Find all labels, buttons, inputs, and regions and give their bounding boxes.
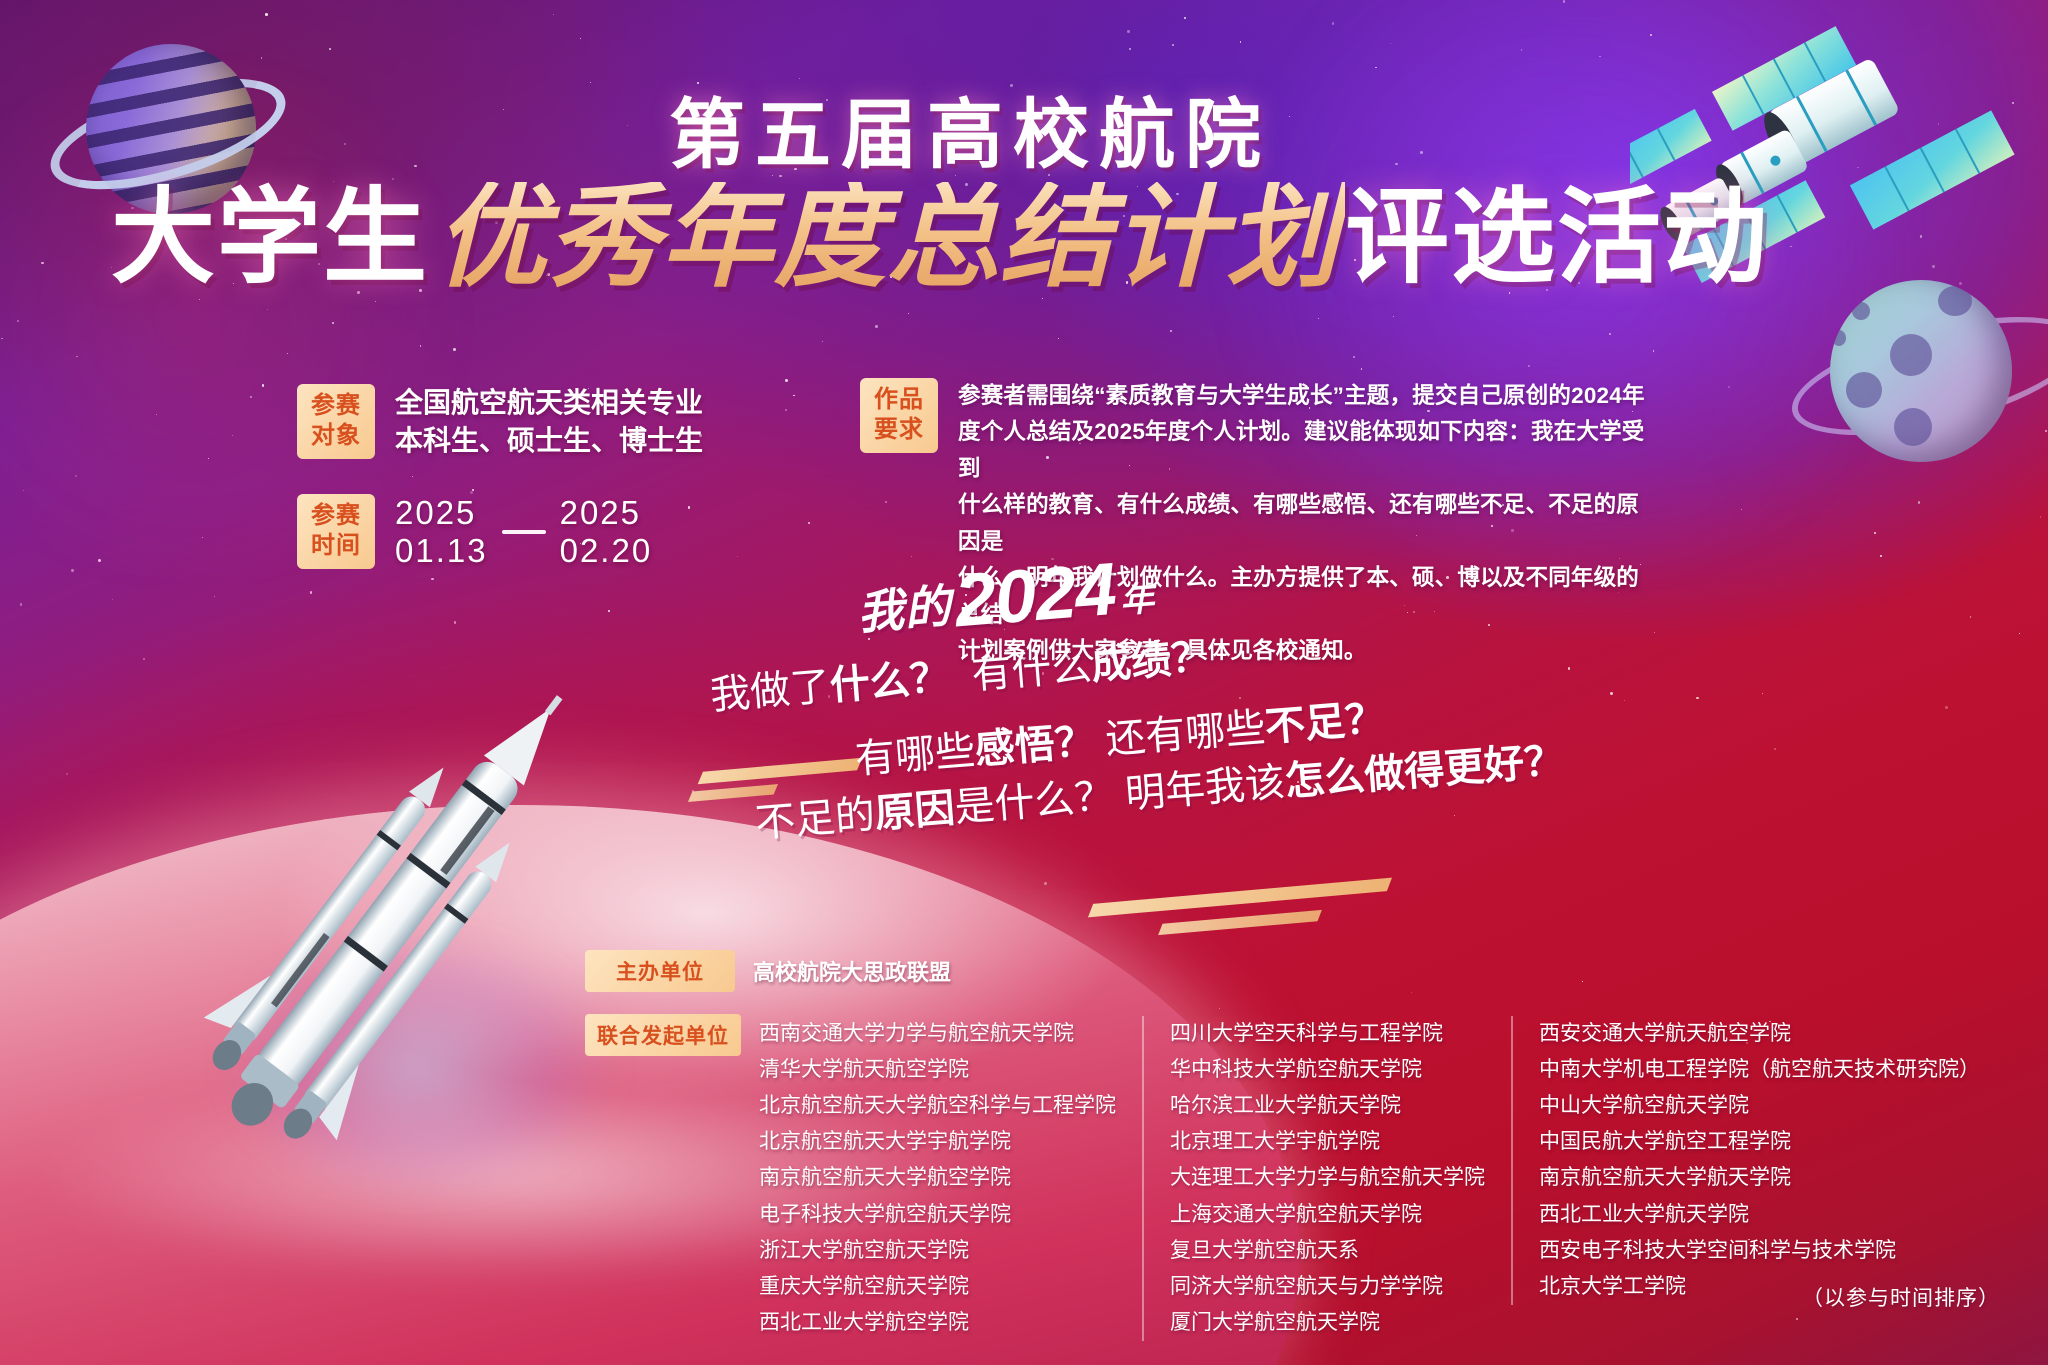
- slogan-year-number: 2024: [952, 555, 1117, 635]
- slogan-l3-a: 不足的: [754, 793, 877, 846]
- title-line-2-suffix: 评选活动: [1345, 186, 1769, 290]
- crater: [1894, 408, 1932, 446]
- entry-time-badge-line1: 参赛: [306, 501, 366, 531]
- title-line-2-highlight: 优秀年度总结计划: [429, 182, 1345, 294]
- crater: [1890, 334, 1932, 376]
- co-organizer-item: 西南交通大学力学与航空航天学院: [759, 1016, 1116, 1052]
- co-organizer-item: 南京航空航天大学航天学院: [1539, 1160, 1980, 1196]
- entry-target-badge: 参赛 对象: [297, 384, 375, 459]
- co-organizer-item: 中南大学机电工程学院（航空航天技术研究院）: [1539, 1052, 1980, 1088]
- co-organizer-item: 中国民航大学航空工程学院: [1539, 1124, 1980, 1160]
- co-organizer-item: 北京航空航天大学航空科学与工程学院: [759, 1088, 1116, 1124]
- co-organizer-item: 华中科技大学航空航天学院: [1170, 1052, 1485, 1088]
- co-organizer-item: 西北工业大学航天学院: [1539, 1197, 1980, 1233]
- co-organizer-item: 复旦大学航空航天系: [1170, 1233, 1485, 1269]
- title-block: 第五届高校航院 大学生 优秀年度总结计划 评选活动: [230, 96, 1650, 294]
- crater: [1938, 286, 1972, 316]
- co-organizer-item: 同济大学航空航天与力学学院: [1170, 1269, 1485, 1305]
- host-name: 高校航院大思政联盟: [753, 950, 951, 987]
- co-organizer-item: 重庆大学航空航天学院: [759, 1269, 1116, 1305]
- requirements-line: 度个人总结及2025年度个人计划。建议能体现如下内容：我在大学受到: [958, 414, 1660, 487]
- requirements-line: 参赛者需围绕“素质教育与大学生成长”主题，提交自己原创的2024年: [958, 378, 1660, 414]
- slogan-l3-c: 是什么？: [953, 774, 1116, 830]
- slogan-l1-b: 什么？: [828, 655, 951, 708]
- entry-target-block: 参赛 对象 全国航空航天类相关专业 本科生、硕士生、博士生: [297, 384, 703, 459]
- poster-canvas: 第五届高校航院 大学生 优秀年度总结计划 评选活动 参赛 对象 全国航空航天类相…: [0, 0, 2048, 1365]
- co-organizer-item: 浙江大学航空航天学院: [759, 1233, 1116, 1269]
- entry-time-separator-icon: [502, 530, 546, 534]
- title-line-2-prefix: 大学生: [111, 186, 429, 290]
- co-organizers-column-1: 西南交通大学力学与航空航天学院清华大学航天航空学院北京航空航天大学航空科学与工程…: [759, 1016, 1142, 1341]
- co-organizers-row: 联合发起单位 西南交通大学力学与航空航天学院清华大学航天航空学院北京航空航天大学…: [585, 1014, 2005, 1341]
- slogan-l3-e: 怎么做得更好？: [1283, 738, 1566, 804]
- crater: [1852, 302, 1870, 320]
- title-line-2: 大学生 优秀年度总结计划 评选活动: [230, 182, 1650, 294]
- ordering-footnote: （以参与时间排序）: [1802, 1282, 2000, 1312]
- entry-time-end-year: 2025: [560, 494, 653, 532]
- co-organizer-item: 南京航空航天大学航空学院: [759, 1160, 1116, 1196]
- slogan-year-suffix: 年: [1118, 571, 1156, 623]
- co-organizer-item: 中山大学航空航天学院: [1539, 1088, 1980, 1124]
- title-line-1: 第五届高校航院: [290, 96, 1650, 176]
- slogan-l1-d: 成绩？: [1090, 635, 1213, 688]
- slogan-l1-a: 我做了: [709, 665, 832, 718]
- slogan-l3-b: 原因: [873, 786, 956, 836]
- entry-time-range: 2025 01.13 2025 02.20: [395, 494, 652, 571]
- entry-time-start: 2025 01.13: [395, 494, 488, 571]
- co-organizer-item: 清华大学航天航空学院: [759, 1052, 1116, 1088]
- entry-time-start-date: 01.13: [395, 532, 488, 570]
- entry-time-end-date: 02.20: [560, 532, 653, 570]
- slogan-accent-bar: [1158, 910, 1322, 935]
- rocket-icon: [150, 640, 630, 1200]
- co-organizer-item: 大连理工大学力学与航空航天学院: [1170, 1160, 1485, 1196]
- slogan-accent-bar: [1088, 878, 1392, 918]
- moon-body: [1830, 280, 2012, 462]
- host-row: 主办单位 高校航院大思政联盟: [585, 950, 2005, 992]
- crater: [1846, 372, 1882, 408]
- entry-time-start-year: 2025: [395, 494, 488, 532]
- co-organizers-column-3: 西安交通大学航天航空学院中南大学机电工程学院（航空航天技术研究院）中山大学航空航…: [1511, 1016, 2006, 1305]
- entry-time-block: 参赛 时间 2025 01.13 2025 02.20: [297, 494, 652, 571]
- co-organizer-item: 厦门大学航空航天学院: [1170, 1305, 1485, 1341]
- organizers-block: 主办单位 高校航院大思政联盟 联合发起单位 西南交通大学力学与航空航天学院清华大…: [585, 950, 2005, 1363]
- host-badge: 主办单位: [585, 950, 735, 992]
- co-organizer-item: 电子科技大学航空航天学院: [759, 1197, 1116, 1233]
- entry-time-badge: 参赛 时间: [297, 494, 375, 569]
- co-organizer-item: 上海交通大学航空航天学院: [1170, 1197, 1485, 1233]
- entry-time-badge-line2: 时间: [306, 531, 366, 561]
- slogan-accent-bar: [698, 758, 863, 784]
- co-organizer-item: 西安电子科技大学空间科学与技术学院: [1539, 1233, 1980, 1269]
- requirements-badge: 作品 要求: [860, 378, 938, 453]
- co-organizer-item: 西安交通大学航天航空学院: [1539, 1016, 1980, 1052]
- requirements-badge-line1: 作品: [869, 385, 929, 415]
- entry-target-text-line1: 全国航空航天类相关专业: [395, 384, 703, 422]
- moon-planet-icon: [1800, 252, 2048, 482]
- co-organizers-column-2: 四川大学空天科学与工程学院华中科技大学航空航天学院哈尔滨工业大学航天学院北京理工…: [1142, 1016, 1511, 1341]
- co-organizer-item: 西北工业大学航空学院: [759, 1305, 1116, 1341]
- requirements-badge-line2: 要求: [869, 415, 929, 445]
- co-organizer-item: 四川大学空天科学与工程学院: [1170, 1016, 1485, 1052]
- co-organizer-item: 哈尔滨工业大学航天学院: [1170, 1088, 1485, 1124]
- co-organizer-item: 北京航空航天大学宇航学院: [759, 1124, 1116, 1160]
- co-organizers-badge: 联合发起单位: [585, 1014, 741, 1056]
- entry-target-badge-line2: 对象: [306, 421, 366, 451]
- requirements-line: 什么样的教育、有什么成绩、有哪些感悟、还有哪些不足、不足的原因是: [958, 487, 1660, 560]
- slogan-block: 我的 2024 年 我做了什么？ 有什么成绩？ 有哪些感悟？ 还有哪些不足？ 不…: [760, 575, 1980, 865]
- entry-target-badge-line1: 参赛: [306, 391, 366, 421]
- slogan-l1-c: 有什么: [970, 644, 1093, 697]
- slogan-my: 我的: [855, 570, 954, 643]
- entry-target-text: 全国航空航天类相关专业 本科生、硕士生、博士生: [395, 384, 703, 459]
- crater: [1832, 330, 1846, 346]
- entry-time-end: 2025 02.20: [560, 494, 653, 571]
- entry-target-text-line2: 本科生、硕士生、博士生: [395, 422, 703, 460]
- co-organizer-item: 北京理工大学宇航学院: [1170, 1124, 1485, 1160]
- slogan-l3-d: 明年我该: [1124, 760, 1287, 816]
